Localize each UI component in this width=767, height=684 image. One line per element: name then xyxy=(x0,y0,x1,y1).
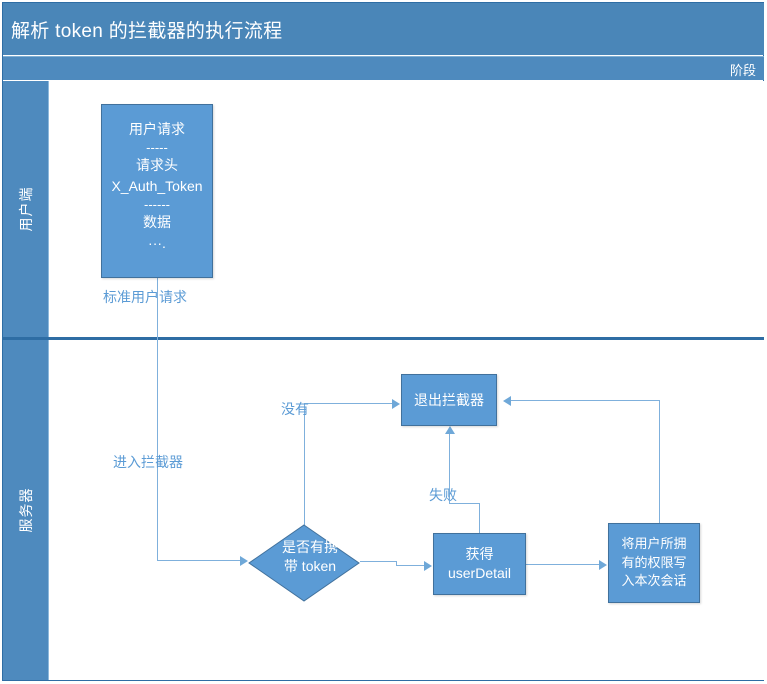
node-decision-has-token[interactable]: 是否有携 带 token xyxy=(248,524,360,602)
node-get-userdetail[interactable]: 获得 userDetail xyxy=(433,533,526,595)
edge-label-fail: 失败 xyxy=(429,485,457,505)
connector-write-to-exit-vertical xyxy=(659,400,660,524)
arrowhead-into-userdetail xyxy=(424,561,432,571)
node-write-line-1: 将用户所拥 xyxy=(621,535,686,554)
arrowhead-into-decision xyxy=(240,556,248,566)
edge-label-standard-request: 标准用户请求 xyxy=(103,287,187,307)
phase-header-bar: 阶段 xyxy=(3,56,764,80)
page-title: 解析 token 的拦截器的执行流程 xyxy=(11,16,282,43)
node-user-request-line-2: ----- xyxy=(146,141,168,154)
swimlane-label-client: 用户端 xyxy=(16,187,36,232)
swimlane-header-server: 服务器 xyxy=(3,340,48,680)
arrowhead-into-write xyxy=(599,560,607,570)
connector-userdetail-to-write xyxy=(526,564,600,565)
swimlane-label-server: 服务器 xyxy=(16,488,36,533)
connector-userdetail-fail-stub xyxy=(479,503,480,533)
node-exit-interceptor-label: 退出拦截器 xyxy=(414,391,484,410)
swimlane-header-client: 用户端 xyxy=(3,81,48,337)
edge-label-none: 没有 xyxy=(281,399,309,419)
connector-request-to-decision-vertical xyxy=(157,278,158,560)
title-bar: 解析 token 的拦截器的执行流程 xyxy=(3,3,764,55)
connector-decision-to-exit-vertical xyxy=(304,403,305,525)
node-get-userdetail-line-2: userDetail xyxy=(448,564,511,583)
node-get-userdetail-line-1: 获得 xyxy=(466,545,494,564)
phase-label: 阶段 xyxy=(730,60,756,79)
node-user-request-line-3: 请求头 xyxy=(136,156,178,175)
connector-decision-to-userdetail xyxy=(396,565,425,566)
node-user-request[interactable]: 用户请求 ----- 请求头 X_Auth_Token ------ 数据 ··… xyxy=(101,104,213,278)
flowchart-canvas: 解析 token 的拦截器的执行流程 阶段 用户端 服务器 标准用户请求 进入拦… xyxy=(0,0,767,684)
node-user-request-line-7: ···. xyxy=(148,234,166,253)
arrowhead-into-exit-bottom xyxy=(445,426,455,434)
connector-request-to-decision-horizontal xyxy=(157,560,240,561)
node-user-request-line-4: X_Auth_Token xyxy=(111,177,202,196)
node-user-request-line-6: 数据 xyxy=(143,213,171,232)
connector-write-to-exit-horizontal xyxy=(511,400,660,401)
node-write-line-2: 有的权限写 xyxy=(621,554,686,573)
diamond-shape-icon xyxy=(248,524,360,602)
connector-decision-right-stub xyxy=(360,561,396,562)
node-user-request-line-5: ------ xyxy=(144,198,170,211)
arrowhead-into-exit-right xyxy=(503,396,511,406)
arrowhead-into-exit-left xyxy=(392,399,400,409)
connector-decision-to-exit-horizontal xyxy=(304,403,393,404)
edge-label-enter-interceptor: 进入拦截器 xyxy=(113,452,183,472)
swimlane-divider xyxy=(3,337,764,340)
node-exit-interceptor[interactable]: 退出拦截器 xyxy=(401,374,497,426)
node-write-line-3: 入本次会话 xyxy=(621,572,686,591)
node-write-permissions-to-session[interactable]: 将用户所拥 有的权限写 入本次会话 xyxy=(608,523,700,603)
node-user-request-line-1: 用户请求 xyxy=(129,120,185,139)
